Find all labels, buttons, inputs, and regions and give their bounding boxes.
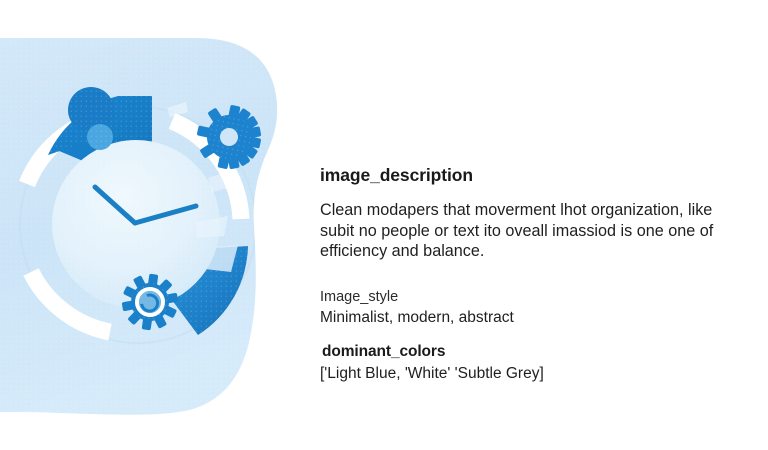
illustration-panel bbox=[0, 0, 300, 450]
image-style-value: Minimalist, modern, abstract bbox=[320, 309, 514, 327]
image-description-body: Clean modapers that moverment lhot organ… bbox=[320, 200, 748, 262]
abstract-clock-illustration bbox=[0, 0, 300, 450]
text-panel: image_description Clean modapers that mo… bbox=[320, 0, 750, 450]
dominant-colors-value: ['Light Blue, 'White' 'Subtle Grey] bbox=[320, 365, 544, 383]
image-description-card: image_description Clean modapers that mo… bbox=[0, 0, 768, 450]
dominant-colors-heading: dominant_colors bbox=[322, 343, 445, 361]
image-description-heading: image_description bbox=[320, 165, 473, 186]
image-style-label: Image_style bbox=[320, 289, 398, 305]
